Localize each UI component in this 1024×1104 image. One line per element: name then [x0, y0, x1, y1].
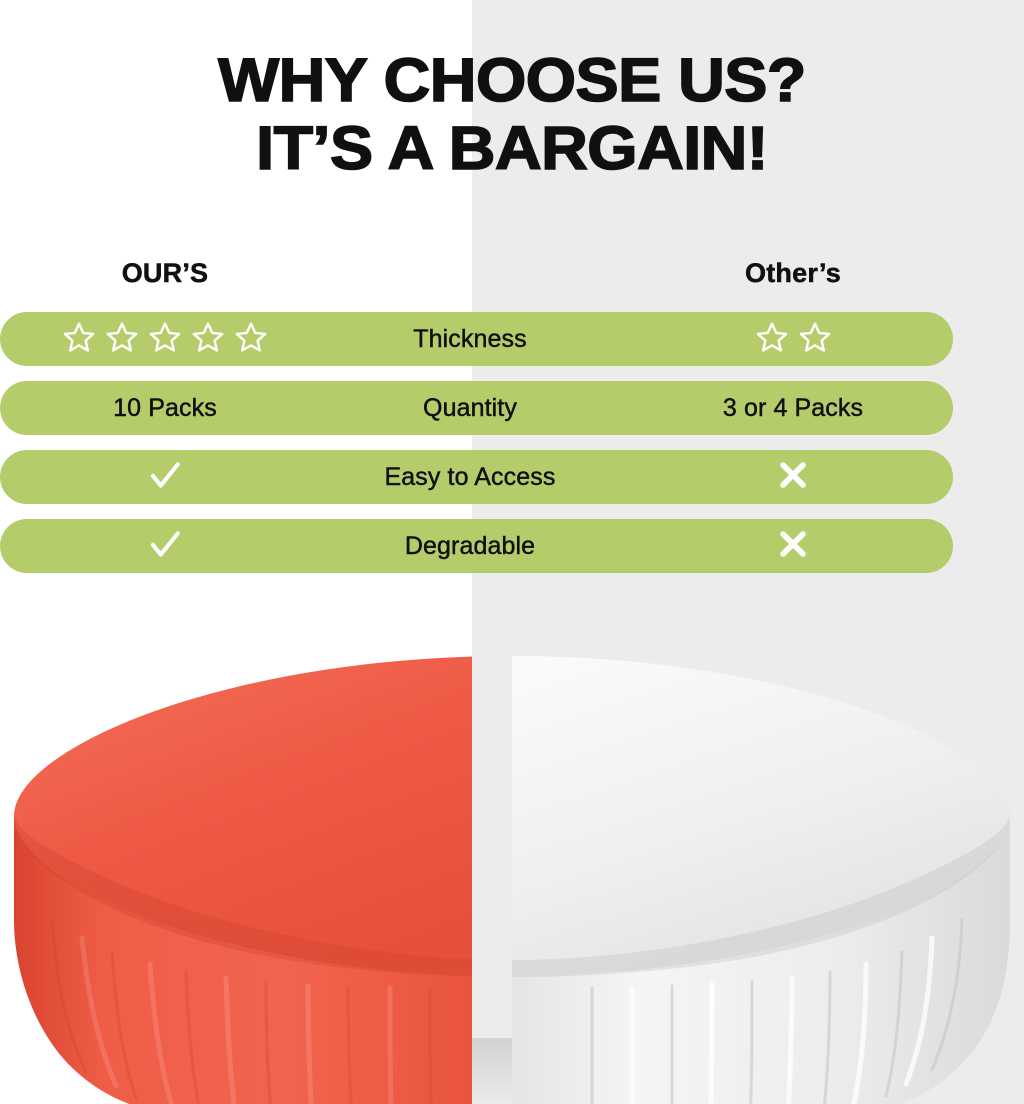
feature-label: Quantity [423, 394, 517, 423]
star-outline-icon [755, 320, 789, 359]
cell-others [668, 450, 918, 504]
product-image [0, 620, 1024, 1104]
star-outline-icon [105, 320, 139, 359]
comparison-row: Easy to Access [0, 450, 953, 504]
infographic-canvas: WHY CHOOSE US? IT’S A BARGAIN! OUR’S Oth… [0, 0, 1024, 1104]
star-outline-icon [798, 320, 832, 359]
check-mark-icon [148, 458, 182, 497]
headline-block: WHY CHOOSE US? IT’S A BARGAIN! [0, 46, 1024, 182]
cross-mark-icon [777, 459, 809, 496]
tablecloth-left-red [14, 656, 512, 1104]
feature-label: Degradable [405, 532, 535, 561]
cell-feature: Degradable [345, 519, 595, 573]
column-header-others: Other’s [688, 256, 898, 290]
feature-label: Easy to Access [385, 463, 556, 492]
comparison-row: 10 PacksQuantity3 or 4 Packs [0, 381, 953, 435]
comparison-table: Thickness10 PacksQuantity3 or 4 PacksEas… [0, 312, 1024, 588]
cell-feature: Quantity [345, 381, 595, 435]
cell-ours [40, 312, 290, 366]
comparison-row: Thickness [0, 312, 953, 366]
cell-feature: Easy to Access [345, 450, 595, 504]
tablecloth-right-white [512, 656, 1010, 1104]
column-header-ours: OUR’S [60, 256, 270, 290]
cell-feature: Thickness [345, 312, 595, 366]
star-rating [62, 320, 268, 359]
cell-others: 3 or 4 Packs [668, 381, 918, 435]
cell-ours [40, 519, 290, 573]
check-mark-icon [148, 527, 182, 566]
cell-others [668, 312, 918, 366]
star-outline-icon [148, 320, 182, 359]
star-rating [755, 320, 832, 359]
cell-ours: 10 Packs [40, 381, 290, 435]
comparison-row: Degradable [0, 519, 953, 573]
star-outline-icon [62, 320, 96, 359]
feature-label: Thickness [413, 325, 526, 354]
cross-mark-icon [777, 528, 809, 565]
star-outline-icon [234, 320, 268, 359]
value-label: 3 or 4 Packs [723, 394, 863, 423]
headline-line-2: IT’S A BARGAIN! [0, 114, 1024, 182]
star-outline-icon [191, 320, 225, 359]
cell-ours [40, 450, 290, 504]
headline-line-1: WHY CHOOSE US? [0, 46, 1024, 114]
cell-others [668, 519, 918, 573]
value-label: 10 Packs [113, 394, 217, 423]
